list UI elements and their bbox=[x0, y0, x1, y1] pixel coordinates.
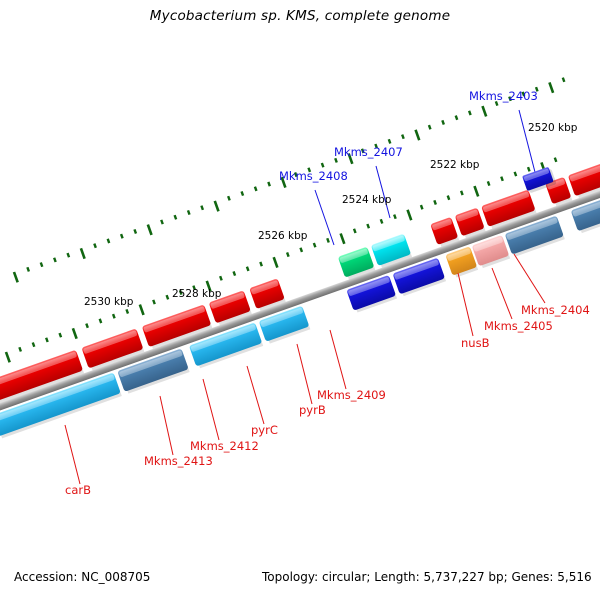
gene-label-pyrB[interactable]: pyrB bbox=[299, 403, 326, 417]
ruler-tick bbox=[327, 238, 329, 242]
gene-label-nusB[interactable]: nusB bbox=[461, 336, 490, 350]
gene-labels-blue[interactable]: Mkms_2403Mkms_2407Mkms_2408 bbox=[279, 89, 538, 183]
ruler-tick bbox=[260, 262, 262, 266]
ruler-tick bbox=[322, 163, 324, 167]
leader-line-pyrB bbox=[297, 344, 312, 404]
ruler-label: 2526 kbp bbox=[258, 230, 308, 242]
ruler-tick bbox=[421, 205, 423, 209]
gene-label-Mkms_2403[interactable]: Mkms_2403 bbox=[469, 89, 538, 103]
ruler-tick bbox=[153, 300, 155, 304]
ruler-tick bbox=[442, 120, 444, 124]
gene-label-Mkms_2408[interactable]: Mkms_2408 bbox=[279, 169, 348, 183]
gene-label-Mkms_2405[interactable]: Mkms_2405 bbox=[484, 319, 553, 333]
ruler-tick bbox=[242, 191, 244, 195]
leader-line-Mkms_2408 bbox=[315, 190, 334, 245]
gene-label-Mkms_2409[interactable]: Mkms_2409 bbox=[317, 388, 386, 402]
ruler-tick bbox=[389, 139, 391, 143]
leader-line-Mkms_2412 bbox=[203, 379, 219, 440]
gene-label-Mkms_2404[interactable]: Mkms_2404 bbox=[521, 303, 590, 317]
ruler-tick bbox=[255, 187, 257, 191]
ruler-tick bbox=[416, 130, 420, 140]
ruler-tick bbox=[54, 258, 56, 262]
leader-line-Mkms_2405 bbox=[492, 268, 512, 319]
ruler-tick bbox=[220, 276, 222, 280]
genome-stats-text: Topology: circular; Length: 5,737,227 bp… bbox=[262, 570, 592, 584]
ruler-tick bbox=[126, 309, 128, 313]
ruler-tick bbox=[188, 210, 190, 214]
ruler-tick bbox=[474, 186, 478, 196]
ruler-tick bbox=[341, 233, 345, 243]
ruler-tick bbox=[121, 234, 123, 238]
ruler-tick bbox=[161, 220, 163, 224]
ruler-tick bbox=[60, 333, 62, 337]
ruler-tick bbox=[41, 263, 43, 267]
ruler-tick bbox=[234, 271, 236, 275]
ruler-tick bbox=[94, 244, 96, 248]
ruler-tick bbox=[19, 347, 21, 351]
ruler-tick bbox=[228, 196, 230, 200]
ruler-tick bbox=[456, 116, 458, 120]
reverse-strand-gene[interactable] bbox=[445, 246, 478, 278]
ruler-label: 2528 kbp bbox=[172, 288, 222, 300]
ruler-tick bbox=[461, 191, 463, 195]
ruler-tick bbox=[354, 229, 356, 233]
ruler-tick bbox=[6, 352, 10, 362]
ruler-tick bbox=[268, 182, 270, 186]
ruler-tick bbox=[167, 295, 169, 299]
ruler-tick bbox=[563, 78, 565, 82]
ruler-label: 2530 kbp bbox=[84, 296, 134, 308]
ruler-tick bbox=[408, 210, 412, 220]
ruler-label: 2522 kbp bbox=[430, 159, 480, 171]
genome-viewer: Mycobacterium sp. KMS, complete genome bbox=[0, 0, 600, 600]
ruler-tick bbox=[27, 267, 29, 271]
ruler-tick bbox=[33, 343, 35, 347]
leader-line-Mkms_2404 bbox=[514, 254, 545, 303]
ruler-tick bbox=[201, 206, 203, 210]
accession-text: Accession: NC_008705 bbox=[14, 570, 150, 584]
ruler-tick bbox=[394, 215, 396, 219]
leader-line-carB bbox=[65, 425, 80, 484]
ruler-label: 2524 kbp bbox=[342, 194, 392, 206]
ruler-tick bbox=[300, 248, 302, 252]
ruler-tick bbox=[247, 267, 249, 271]
ruler-tick bbox=[469, 111, 471, 115]
ruler-tick bbox=[402, 135, 404, 139]
ruler-tick bbox=[482, 106, 486, 116]
gene-label-Mkms_2407[interactable]: Mkms_2407 bbox=[334, 145, 403, 159]
gene-label-Mkms_2413[interactable]: Mkms_2413 bbox=[144, 454, 213, 468]
gene-label-pyrC[interactable]: pyrC bbox=[251, 423, 278, 437]
ruler-tick bbox=[367, 224, 369, 228]
leader-line-Mkms_2409 bbox=[330, 330, 346, 389]
ruler-tick bbox=[501, 177, 503, 181]
ruler-tick bbox=[549, 82, 553, 92]
ruler-tick bbox=[113, 314, 115, 318]
ruler-tick bbox=[528, 167, 530, 171]
ruler-tick bbox=[429, 125, 431, 129]
ruler-tick bbox=[515, 172, 517, 176]
ruler-tick bbox=[287, 252, 289, 256]
gene-label-Mkms_2412[interactable]: Mkms_2412 bbox=[190, 439, 259, 453]
ruler-tick bbox=[86, 324, 88, 328]
ruler-tick bbox=[73, 328, 77, 338]
ruler-tick bbox=[108, 239, 110, 243]
ruler-tick bbox=[434, 200, 436, 204]
leader-line-Mkms_2407 bbox=[376, 166, 390, 218]
ruler-tick bbox=[215, 201, 219, 211]
ruler-tick bbox=[46, 338, 48, 342]
ruler-tick bbox=[134, 229, 136, 233]
ruler-tick bbox=[175, 215, 177, 219]
leader-line-pyrC bbox=[247, 366, 264, 424]
ruler-tick bbox=[274, 257, 278, 267]
ruler-tick bbox=[68, 253, 70, 257]
gene-labels-red[interactable]: Mkms_2404Mkms_2405nusBMkms_2409pyrBpyrCM… bbox=[65, 303, 590, 497]
ruler-tick bbox=[555, 158, 557, 162]
ruler-tick bbox=[381, 219, 383, 223]
ruler-tick bbox=[14, 272, 18, 282]
ruler-tick bbox=[100, 319, 102, 323]
ruler-tick bbox=[148, 225, 152, 235]
ruler-tick bbox=[140, 305, 144, 315]
ruler-tick bbox=[448, 196, 450, 200]
forward-strand-track bbox=[0, 163, 600, 408]
leader-line-Mkms_2403 bbox=[519, 110, 536, 176]
genome-map-canvas[interactable]: 2520 kbp2522 kbp2524 kbp2526 kbp2528 kbp… bbox=[0, 0, 600, 600]
leader-line-Mkms_2413 bbox=[160, 396, 173, 455]
ruler-label: 2520 kbp bbox=[528, 122, 578, 134]
gene-label-carB[interactable]: carB bbox=[65, 483, 91, 497]
ruler-tick bbox=[314, 243, 316, 247]
ruler-tick bbox=[488, 181, 490, 185]
ruler-tick bbox=[81, 248, 85, 258]
leader-line-nusB bbox=[458, 273, 473, 336]
